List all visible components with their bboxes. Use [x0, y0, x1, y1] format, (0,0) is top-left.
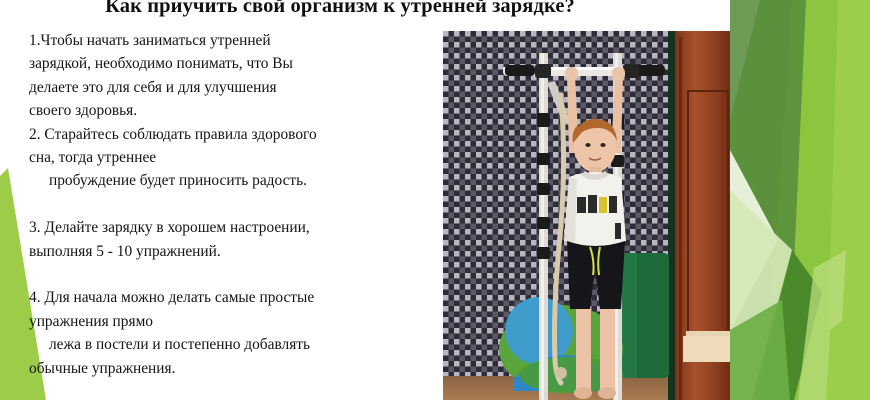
- body-line: сна, тогда утреннее: [29, 146, 429, 169]
- body-line: делаете это для себя и для улучшения: [29, 76, 429, 99]
- body-line: выполняя 5 - 10 упражнений.: [29, 240, 429, 263]
- body-paragraph-point-1: 1.Чтобы начать заниматься утренней заряд…: [29, 29, 429, 123]
- boy-hanging-on-pull-up-bar-photo: [443, 31, 732, 400]
- body-line: своего здоровья.: [29, 99, 429, 122]
- body-line: 2. Старайтесь соблюдать правила здоровог…: [29, 123, 429, 146]
- body-line: 4. Для начала можно делать самые простые: [29, 286, 429, 309]
- presentation-slide: Как приучить свой организм к утренней за…: [0, 0, 870, 400]
- body-line: обычные упражнения.: [29, 357, 429, 380]
- body-line: 3. Делайте зарядку в хорошем настроении,: [29, 216, 429, 239]
- body-line: зарядкой, необходимо понимать, что Вы: [29, 52, 429, 75]
- body-line: упражнения прямо: [29, 310, 429, 333]
- body-line: 1.Чтобы начать заниматься утренней: [29, 29, 429, 52]
- page-title: Как приучить свой организм к утренней за…: [0, 0, 680, 19]
- green-polygon-cluster: [730, 0, 870, 400]
- body-paragraph-point-2: 2. Старайтесь соблюдать правила здоровог…: [29, 123, 429, 193]
- body-line: лежа в постели и постепенно добавлять: [29, 333, 429, 356]
- decorative-green-polygons-right: [730, 0, 870, 400]
- paragraph-spacer: [29, 380, 429, 400]
- body-paragraph-point-3: 3. Делайте зарядку в хорошем настроении,…: [29, 216, 429, 263]
- paragraph-spacer: [29, 263, 429, 286]
- body-line: пробуждение будет приносить радость.: [29, 169, 429, 192]
- slide-body-text: 1.Чтобы начать заниматься утренней заряд…: [29, 29, 429, 400]
- photo-illustration: [443, 31, 732, 400]
- paragraph-spacer: [29, 193, 429, 216]
- body-paragraph-point-4: 4. Для начала можно делать самые простые…: [29, 286, 429, 380]
